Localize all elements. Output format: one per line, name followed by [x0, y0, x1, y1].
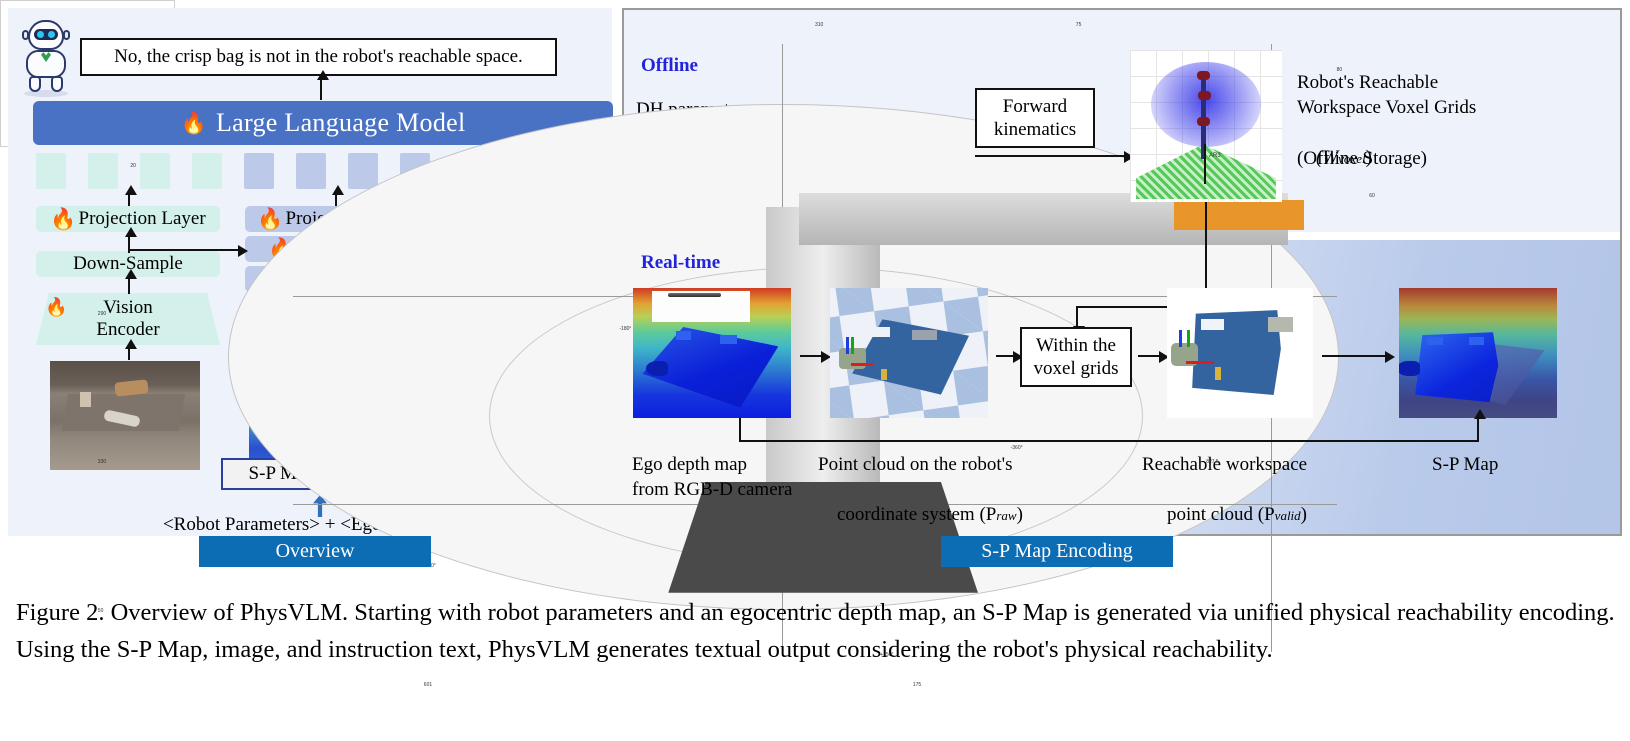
arrow-valid-to-spmap	[1322, 355, 1386, 357]
voxel-robot-tag: AR3	[1209, 153, 1221, 159]
voxel-joint-1	[1197, 71, 1210, 80]
token-vision-3	[140, 153, 170, 189]
ego-nub	[646, 361, 668, 377]
within-line1: Within the	[1034, 334, 1119, 357]
ego-caption-line1: Ego depth map	[632, 452, 747, 477]
praw-text: coordinate system (P	[837, 504, 996, 525]
voxel-caption-line4: (Offline Storage)	[1297, 146, 1427, 171]
pointcloud-axis-y	[851, 337, 854, 354]
pointcloud-axis-z	[846, 337, 849, 354]
flame-icon: 🔥	[50, 209, 76, 230]
raw-point-cloud-image	[830, 288, 988, 418]
pointcloud-axis-x	[851, 363, 873, 366]
arrow-into-spmap	[1477, 418, 1479, 442]
valid-yellow-object	[1215, 367, 1221, 380]
vision-encoder: 🔥 Vision Encoder	[36, 293, 220, 345]
pointcloud-gray-object	[912, 330, 937, 340]
dim-175: 175	[913, 682, 921, 688]
valid-caption-line1: Reachable workspace	[1142, 452, 1307, 477]
token-vision-2	[88, 153, 118, 189]
within-line2: voxel grids	[1034, 357, 1119, 380]
line-ego-across	[739, 440, 1479, 442]
dim-20: 20	[130, 163, 136, 169]
valid-gray-object	[1268, 317, 1293, 333]
mascot-body	[26, 50, 66, 78]
token-constraint-3	[348, 153, 378, 189]
pointcloud-yellow-object	[881, 369, 887, 381]
pointcloud-caption-line1: Point cloud on the robot's	[818, 452, 1012, 477]
pvalid-paren: )	[1301, 504, 1307, 525]
voxel-joint-3	[1197, 117, 1210, 126]
llm-label: Large Language Model	[216, 108, 466, 138]
tab-overview[interactable]: Overview	[199, 536, 431, 567]
vision-projection-label: Projection Layer	[79, 208, 206, 230]
arrow-pointcloud-to-within	[996, 355, 1014, 357]
fk-line2: kinematics	[994, 118, 1076, 141]
rgbd-camera-inset	[652, 291, 750, 322]
object-crisp-bag	[114, 379, 148, 397]
within-voxel-grids-box: Within the voxel grids	[1020, 327, 1132, 387]
dim-290: 290	[98, 311, 106, 317]
reachable-workspace-voxel-image: AR3	[1130, 50, 1282, 202]
camera-body-icon	[668, 293, 721, 297]
sp-map-image	[1399, 288, 1557, 418]
token-constraint-1	[244, 153, 274, 189]
mascot-shadow	[24, 90, 68, 97]
arrow-voxel-into-within	[1076, 306, 1078, 327]
voxel-caption-line2: Workspace Voxel Grids	[1297, 95, 1476, 120]
realtime-label: Real-time	[641, 252, 720, 274]
valid-axis-y	[1187, 330, 1190, 347]
mascot-ear-right	[63, 30, 70, 40]
spmap-square-2	[1469, 337, 1485, 345]
object-can	[80, 392, 91, 407]
ego-square-1	[676, 331, 692, 340]
arrow-image-to-vision-encoder	[128, 348, 130, 360]
robot-mascot-icon	[18, 18, 74, 96]
spmap-square-1	[1427, 337, 1443, 345]
ego-square-2	[720, 335, 737, 344]
voxel-caption-line1: Robot's Reachable	[1297, 70, 1438, 95]
ego-depth-map-image	[633, 288, 791, 418]
pvalid-subscript: valid	[1275, 508, 1301, 523]
mascot-eye-right	[48, 31, 55, 38]
token-vision-4	[192, 153, 222, 189]
rgb-image-thumbnail	[50, 361, 200, 470]
valid-axis-x	[1186, 361, 1214, 364]
flame-icon: 🔥	[45, 296, 67, 318]
pointcloud-white-object	[871, 327, 890, 337]
voxel-joint-2	[1198, 91, 1211, 100]
spmap-plate	[1412, 332, 1500, 405]
dim-neg360: -360°	[1011, 445, 1023, 451]
line-ego-down	[739, 418, 741, 442]
mascot-leg-right	[51, 76, 63, 92]
figure-root: No, the crisp bag is not in the robot's …	[0, 0, 1630, 741]
arrow-vision-encoder-to-downsample	[128, 278, 130, 294]
arrow-llm-to-bubble	[320, 79, 322, 100]
ego-caption-line2: from RGB-D camera	[632, 477, 792, 502]
figure-caption: Figure 2. Overview of PhysVLM. Starting …	[16, 594, 1616, 668]
offline-label: Offline	[641, 55, 698, 77]
dim-310: 310	[815, 22, 823, 28]
praw-paren: )	[1017, 504, 1023, 525]
pvalid-text: point cloud (P	[1167, 504, 1275, 525]
reachable-point-cloud-image	[1167, 288, 1313, 418]
forward-kinematics-box: Forward kinematics	[975, 88, 1095, 148]
spmap-caption: S-P Map	[1432, 452, 1498, 477]
fk-line1: Forward	[994, 95, 1076, 118]
valid-white-object	[1201, 319, 1224, 329]
flame-icon: 🔥	[257, 209, 283, 230]
arrow-fk-to-voxel	[1087, 155, 1125, 157]
dim-neg180: -180°	[619, 326, 631, 332]
dim-330: 330	[98, 459, 106, 465]
spmap-nub	[1399, 361, 1420, 377]
valid-axis-z	[1179, 330, 1182, 347]
dim-75: 75	[1076, 22, 1082, 28]
token-vision-1	[36, 153, 66, 189]
voxel-axis	[1204, 144, 1206, 184]
robot-arm-marker	[1174, 200, 1304, 230]
vision-encoder-line2: Encoder	[96, 319, 159, 341]
arrow-ego-to-pointcloud	[800, 355, 822, 357]
flame-icon: 🔥	[181, 113, 207, 134]
arrow-within-to-valid	[1138, 355, 1160, 357]
arrow-downsample-to-fusion	[129, 249, 239, 251]
mascot-eye-left	[37, 31, 44, 38]
mascot-leg-left	[29, 76, 41, 92]
token-constraint-2	[296, 153, 326, 189]
tab-sp-map-encoding[interactable]: S-P Map Encoding	[941, 536, 1173, 567]
dim-601: 601	[424, 682, 432, 688]
praw-subscript: raw	[996, 508, 1016, 523]
